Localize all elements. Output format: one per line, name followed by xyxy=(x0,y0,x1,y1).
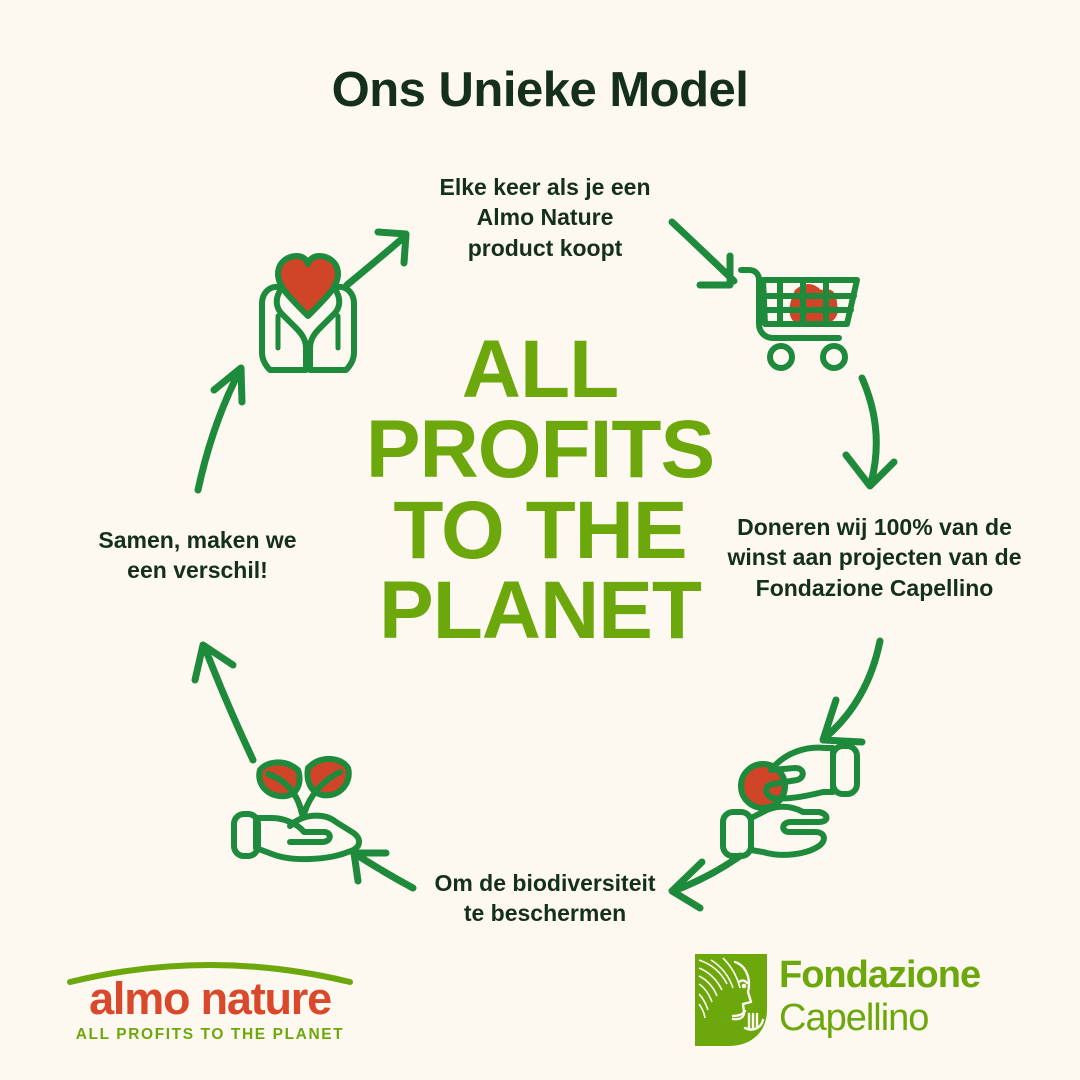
step-purchase-caption: Elke keer als je een Almo Nature product… xyxy=(390,172,700,263)
fondazione-face-mark-icon xyxy=(695,954,767,1046)
step-purchase-line-1: Elke keer als je een xyxy=(390,172,700,202)
center-line-1: ALL xyxy=(330,330,750,410)
step-together-line-2: een verschil! xyxy=(60,555,335,585)
arrow-together-to-heart xyxy=(198,368,242,490)
step-biodiversity-line-2: te beschermen xyxy=(400,898,690,928)
almo-nature-logo: almo nature ALL PROFITS TO THE PLANET xyxy=(60,952,360,1052)
shopping-cart-icon xyxy=(735,252,870,377)
step-donate-line-2: winst aan projecten van de xyxy=(712,542,1037,572)
center-slogan: ALL PROFITS TO THE PLANET xyxy=(330,330,750,651)
step-donate-line-3: Fondazione Capellino xyxy=(712,573,1037,603)
step-biodiversity-line-1: Om de biodiversiteit xyxy=(400,868,690,898)
hand-sprout-icon xyxy=(228,728,378,868)
almo-nature-tagline: ALL PROFITS TO THE PLANET xyxy=(60,1027,360,1043)
step-donate-caption: Doneren wij 100% van de winst aan projec… xyxy=(712,512,1037,603)
step-biodiversity-caption: Om de biodiversiteit te beschermen xyxy=(400,868,690,929)
almo-nature-wordmark: almo nature xyxy=(60,976,360,1021)
arrow-donate-to-giving xyxy=(823,641,880,742)
hand-giving-coin-icon xyxy=(715,730,865,865)
center-line-4: PLANET xyxy=(330,571,750,651)
center-line-2: PROFITS xyxy=(330,410,750,490)
fondazione-capellino-logo: Fondazione Capellino xyxy=(695,952,1025,1050)
arrow-cart-to-donate xyxy=(846,378,894,486)
step-purchase-line-3: product koopt xyxy=(390,233,700,263)
infographic-canvas: Ons Unieke Model .arw { fill:none; strok… xyxy=(0,0,1080,1080)
fondazione-wordmark: Fondazione Capellino xyxy=(779,954,1029,1039)
fondazione-line-1: Fondazione xyxy=(779,954,1029,997)
step-donate-line-1: Doneren wij 100% van de xyxy=(712,512,1037,542)
center-line-3: TO THE xyxy=(330,491,750,571)
step-together-caption: Samen, maken we een verschil! xyxy=(60,525,335,586)
page-title: Ons Unieke Model xyxy=(0,62,1080,118)
fondazione-line-2: Capellino xyxy=(779,997,1029,1040)
step-together-line-1: Samen, maken we xyxy=(60,525,335,555)
step-purchase-line-2: Almo Nature xyxy=(390,202,700,232)
